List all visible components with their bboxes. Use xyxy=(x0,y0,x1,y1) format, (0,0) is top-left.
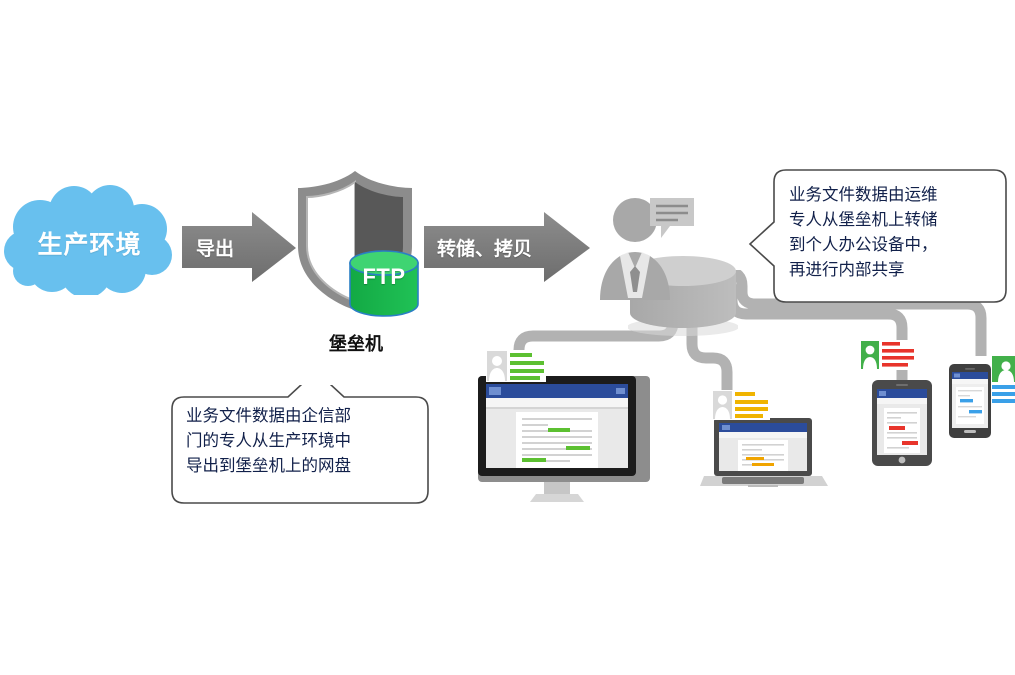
ftp-label: FTP xyxy=(349,264,419,290)
arrow-transfer-label: 转储、拷贝 xyxy=(437,234,532,261)
device-phone xyxy=(949,364,991,443)
callout-left-text: 业务文件数据由企信部 门的专人从生产环境中 导出到堡垒机上的网盘 xyxy=(186,403,416,478)
device-desktop xyxy=(478,376,650,509)
callout-left-line-3: 导出到堡垒机上的网盘 xyxy=(186,453,416,478)
callout-right-text: 业务文件数据由运维 专人从堡垒机上转储 到个人办公设备中， 再进行内部共享 xyxy=(789,182,999,282)
callout-right-line-3: 到个人办公设备中， xyxy=(789,232,999,257)
callout-right-line-4: 再进行内部共享 xyxy=(789,257,999,282)
arrow-export-label: 导出 xyxy=(196,234,234,261)
desktop-user-card xyxy=(486,350,546,387)
tablet-user-card xyxy=(860,340,916,375)
laptop-user-card xyxy=(712,390,770,425)
phone-user-card xyxy=(992,356,1015,411)
operator-speech-bubble xyxy=(648,196,696,247)
callout-left-line-1: 业务文件数据由企信部 xyxy=(186,403,416,428)
callout-left-line-2: 门的专人从生产环境中 xyxy=(186,428,416,453)
bastion-host-label: 堡垒机 xyxy=(306,330,406,356)
production-environment-cloud: 生产环境 xyxy=(2,185,177,295)
callout-right-line-1: 业务文件数据由运维 xyxy=(789,182,999,207)
device-laptop xyxy=(700,418,828,493)
device-tablet xyxy=(872,380,932,471)
diagram-canvas: 生产环境 导出 xyxy=(0,0,1015,675)
cloud-label: 生产环境 xyxy=(2,225,177,261)
callout-right-line-2: 专人从堡垒机上转储 xyxy=(789,207,999,232)
